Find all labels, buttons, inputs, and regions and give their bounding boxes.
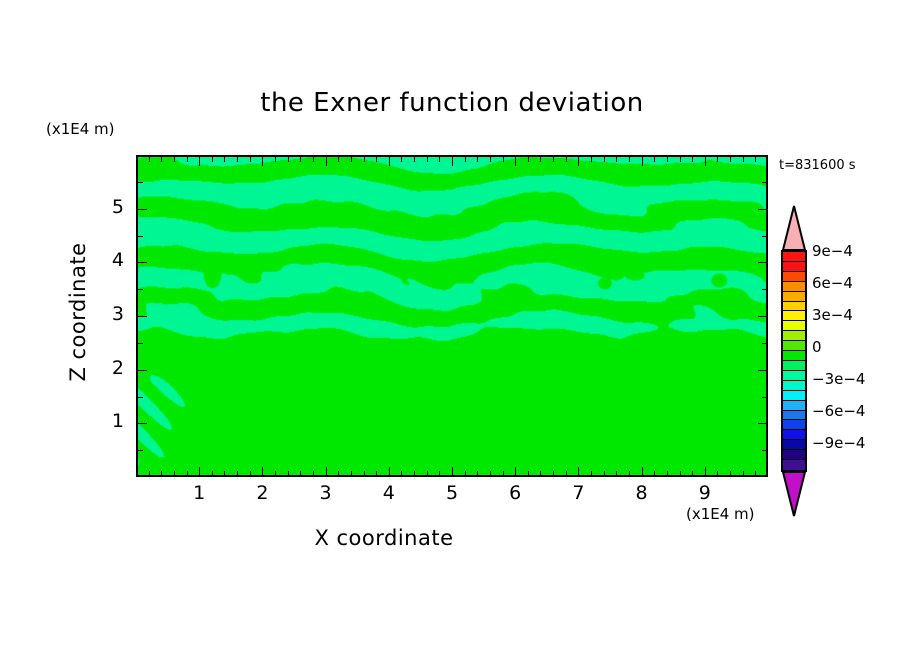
x-tick-label: 8	[622, 482, 662, 504]
x-minor-tick-top	[212, 157, 213, 162]
x-minor-tick	[174, 471, 175, 476]
x-tick-label: 6	[495, 482, 535, 504]
x-tick-label: 5	[432, 482, 472, 504]
x-minor-tick-top	[174, 157, 175, 162]
x-minor-tick-top	[313, 157, 314, 162]
x-major-tick-top	[705, 157, 706, 166]
y-minor-tick-right	[762, 450, 767, 451]
x-minor-tick	[717, 471, 718, 476]
y-minor-tick-right	[762, 343, 767, 344]
contour-field	[138, 157, 766, 475]
x-tick-label: 3	[306, 482, 346, 504]
x-major-tick	[705, 467, 706, 476]
y-minor-tick	[138, 450, 143, 451]
x-minor-tick-top	[755, 157, 756, 162]
colorbar-under-arrow	[781, 471, 807, 517]
y-axis-unit-label: (x1E4 m)	[46, 120, 115, 138]
x-major-tick	[578, 467, 579, 476]
x-minor-tick	[667, 471, 668, 476]
x-minor-tick-top	[629, 157, 630, 162]
y-major-tick-right	[758, 423, 767, 424]
colorbar-level-cell	[783, 361, 805, 371]
colorbar-level-cell	[783, 450, 805, 460]
x-minor-tick-top	[503, 157, 504, 162]
colorbar-level-cell	[783, 381, 805, 391]
x-minor-tick	[680, 471, 681, 476]
x-minor-tick-top	[414, 157, 415, 162]
x-minor-tick	[553, 471, 554, 476]
x-minor-tick	[224, 471, 225, 476]
x-minor-tick	[212, 471, 213, 476]
x-major-tick-top	[326, 157, 327, 166]
x-minor-tick	[338, 471, 339, 476]
x-minor-tick-top	[680, 157, 681, 162]
colorbar-tick-label: 6e−4	[812, 274, 853, 292]
x-tick-label: 4	[369, 482, 409, 504]
x-minor-tick	[465, 471, 466, 476]
y-minor-tick	[138, 289, 143, 290]
x-minor-tick-top	[616, 157, 617, 162]
x-minor-tick	[540, 471, 541, 476]
colorbar-level-cell	[783, 272, 805, 282]
x-minor-tick-top	[743, 157, 744, 162]
x-minor-tick	[161, 471, 162, 476]
x-minor-tick-top	[161, 157, 162, 162]
colorbar-level-cell	[783, 411, 805, 421]
x-tick-label: 2	[242, 482, 282, 504]
x-minor-tick-top	[591, 157, 592, 162]
x-axis-title: X coordinate	[0, 526, 768, 550]
x-minor-tick-top	[224, 157, 225, 162]
y-tick-label: 4	[96, 249, 124, 271]
x-minor-tick-top	[427, 157, 428, 162]
colorbar-level-cell	[783, 371, 805, 381]
x-major-tick	[515, 467, 516, 476]
x-minor-tick-top	[553, 157, 554, 162]
x-minor-tick-top	[604, 157, 605, 162]
x-minor-tick-top	[401, 157, 402, 162]
colorbar-over-arrow	[781, 205, 807, 251]
x-minor-tick	[755, 471, 756, 476]
x-minor-tick-top	[250, 157, 251, 162]
x-major-tick-top	[199, 157, 200, 166]
colorbar-level-cell	[783, 430, 805, 440]
y-minor-tick-right	[762, 236, 767, 237]
x-minor-tick-top	[338, 157, 339, 162]
x-major-tick-top	[389, 157, 390, 166]
x-axis-unit-label: (x1E4 m)	[686, 505, 755, 523]
y-major-tick	[138, 209, 147, 210]
y-major-tick	[138, 262, 147, 263]
x-minor-tick-top	[351, 157, 352, 162]
y-major-tick	[138, 423, 147, 424]
colorbar-level-cell	[783, 420, 805, 430]
y-minor-tick	[138, 397, 143, 398]
x-major-tick	[199, 467, 200, 476]
x-minor-tick	[503, 471, 504, 476]
x-minor-tick-top	[730, 157, 731, 162]
colorbar-level-cell	[783, 331, 805, 341]
time-annotation: t=831600 s	[779, 158, 856, 173]
y-tick-label: 5	[96, 196, 124, 218]
y-tick-label: 3	[96, 303, 124, 325]
x-minor-tick	[591, 471, 592, 476]
x-minor-tick-top	[288, 157, 289, 162]
x-minor-tick-top	[667, 157, 668, 162]
contour-plot-area	[136, 155, 768, 477]
colorbar-levels	[781, 250, 807, 472]
x-minor-tick-top	[237, 157, 238, 162]
colorbar-level-cell	[783, 282, 805, 292]
x-minor-tick-top	[528, 157, 529, 162]
x-tick-label: 9	[685, 482, 725, 504]
colorbar-level-cell	[783, 351, 805, 361]
colorbar-level-cell	[783, 401, 805, 411]
x-minor-tick-top	[376, 157, 377, 162]
x-minor-tick	[616, 471, 617, 476]
colorbar-level-cell	[783, 460, 805, 470]
y-minor-tick	[138, 236, 143, 237]
x-minor-tick	[237, 471, 238, 476]
x-minor-tick	[490, 471, 491, 476]
x-minor-tick-top	[149, 157, 150, 162]
colorbar-level-cell	[783, 440, 805, 450]
x-minor-tick	[364, 471, 365, 476]
colorbar-level-cell	[783, 262, 805, 272]
x-major-tick-top	[642, 157, 643, 166]
y-major-tick-right	[758, 316, 767, 317]
x-minor-tick-top	[490, 157, 491, 162]
y-tick-label: 1	[96, 410, 124, 432]
y-minor-tick-right	[762, 397, 767, 398]
x-minor-tick-top	[654, 157, 655, 162]
x-minor-tick-top	[275, 157, 276, 162]
x-minor-tick	[566, 471, 567, 476]
colorbar-level-cell	[783, 292, 805, 302]
x-major-tick-top	[262, 157, 263, 166]
colorbar-tick-label: −3e−4	[812, 370, 865, 388]
x-minor-tick	[187, 471, 188, 476]
x-minor-tick-top	[566, 157, 567, 162]
x-minor-tick	[604, 471, 605, 476]
x-minor-tick	[275, 471, 276, 476]
y-major-tick	[138, 370, 147, 371]
colorbar-tick-label: 9e−4	[812, 242, 853, 260]
y-minor-tick	[138, 182, 143, 183]
x-tick-label: 7	[558, 482, 598, 504]
x-minor-tick	[427, 471, 428, 476]
y-major-tick-right	[758, 262, 767, 263]
x-minor-tick	[414, 471, 415, 476]
y-tick-label: 2	[96, 357, 124, 379]
x-minor-tick	[730, 471, 731, 476]
x-minor-tick-top	[540, 157, 541, 162]
y-major-tick-right	[758, 209, 767, 210]
x-minor-tick-top	[364, 157, 365, 162]
x-minor-tick	[654, 471, 655, 476]
x-minor-tick	[692, 471, 693, 476]
x-minor-tick-top	[692, 157, 693, 162]
colorbar-level-cell	[783, 252, 805, 262]
x-minor-tick	[376, 471, 377, 476]
y-major-tick-right	[758, 370, 767, 371]
colorbar-level-cell	[783, 302, 805, 312]
x-minor-tick	[629, 471, 630, 476]
x-minor-tick-top	[717, 157, 718, 162]
x-minor-tick	[528, 471, 529, 476]
x-minor-tick	[743, 471, 744, 476]
x-major-tick	[642, 467, 643, 476]
colorbar-level-cell	[783, 341, 805, 351]
colorbar-tick-label: 3e−4	[812, 306, 853, 324]
y-axis-title: Z coordinate	[66, 182, 90, 442]
y-major-tick	[138, 316, 147, 317]
colorbar-level-cell	[783, 391, 805, 401]
x-minor-tick	[288, 471, 289, 476]
x-minor-tick	[477, 471, 478, 476]
y-minor-tick	[138, 343, 143, 344]
x-major-tick	[452, 467, 453, 476]
x-tick-label: 1	[179, 482, 219, 504]
y-minor-tick-right	[762, 182, 767, 183]
colorbar-tick-label: −9e−4	[812, 434, 865, 452]
colorbar-tick-label: −6e−4	[812, 402, 865, 420]
x-minor-tick-top	[187, 157, 188, 162]
x-minor-tick-top	[439, 157, 440, 162]
colorbar-level-cell	[783, 321, 805, 331]
x-minor-tick	[300, 471, 301, 476]
x-minor-tick	[149, 471, 150, 476]
colorbar-level-cell	[783, 311, 805, 321]
colorbar	[781, 205, 807, 517]
x-major-tick	[326, 467, 327, 476]
x-minor-tick-top	[300, 157, 301, 162]
x-minor-tick-top	[477, 157, 478, 162]
x-major-tick-top	[515, 157, 516, 166]
y-minor-tick-right	[762, 289, 767, 290]
x-minor-tick-top	[465, 157, 466, 162]
x-major-tick-top	[452, 157, 453, 166]
x-minor-tick	[351, 471, 352, 476]
figure-canvas: the Exner function deviation (x1E4 m) (x…	[0, 0, 904, 654]
x-minor-tick	[439, 471, 440, 476]
chart-title: the Exner function deviation	[0, 88, 904, 118]
x-minor-tick	[401, 471, 402, 476]
x-minor-tick	[250, 471, 251, 476]
x-major-tick-top	[578, 157, 579, 166]
x-major-tick	[262, 467, 263, 476]
x-minor-tick	[313, 471, 314, 476]
x-major-tick	[389, 467, 390, 476]
colorbar-tick-label: 0	[812, 338, 822, 356]
